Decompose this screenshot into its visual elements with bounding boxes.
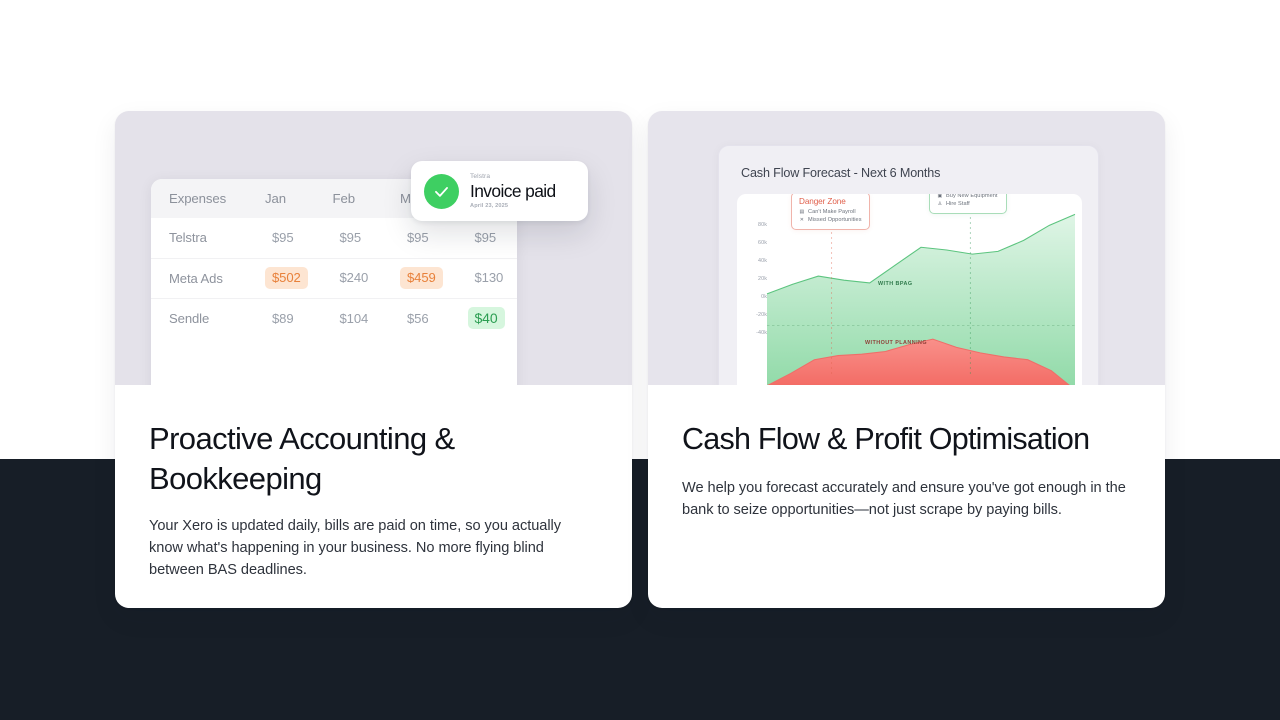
value-text: $130: [468, 267, 511, 288]
value-text-highlight-green: $40: [468, 307, 505, 329]
value-text: $104: [333, 308, 376, 329]
col-header-feb: Feb: [315, 179, 383, 218]
value-text-highlight-orange: $502: [265, 267, 308, 288]
feature-card-accounting[interactable]: Expenses Jan Feb Mar Telstra $95 $95 $9: [115, 111, 632, 608]
expense-table-body: Telstra $95 $95 $95 $95 Meta Ads $502 $2…: [151, 218, 517, 338]
value-text: $240: [333, 267, 376, 288]
toast-vendor: Telstra: [470, 172, 556, 181]
cell-value: $104: [315, 298, 383, 338]
cell-value: $95: [450, 218, 518, 258]
band-label-with-bpag: WITH BPAG: [878, 281, 913, 287]
feature-card-cashflow[interactable]: Cash Flow Forecast - Next 6 Months 80k 6…: [648, 111, 1165, 608]
cell-value: $95: [315, 218, 383, 258]
chart-canvas: 80k 60k 40k 20k 0k -20k -40k: [737, 194, 1082, 385]
danger-zone-callout: Danger Zone ▤ Can't Make Payroll ✕ Misse…: [791, 194, 870, 230]
check-circle-icon: [424, 174, 459, 209]
callout-item: ✕ Missed Opportunities: [799, 216, 862, 224]
callout-item: ▤ Can't Make Payroll: [799, 208, 862, 216]
value-text: $89: [265, 308, 301, 329]
cell-value: $95: [382, 218, 450, 258]
page-root: Expenses Jan Feb Mar Telstra $95 $95 $9: [0, 0, 1280, 720]
callout-title: Danger Zone: [799, 197, 862, 206]
toast-headline: Invoice paid: [470, 181, 556, 202]
chart-title: Cash Flow Forecast - Next 6 Months: [741, 166, 940, 180]
value-text: $56: [400, 308, 436, 329]
value-text: $95: [400, 227, 436, 248]
chart-plot: [737, 194, 1082, 385]
callout-item: ♙ Hire Staff: [937, 200, 999, 208]
table-row: Meta Ads $502 $240 $459 $130: [151, 258, 517, 298]
row-label: Meta Ads: [151, 258, 247, 298]
row-label: Telstra: [151, 218, 247, 258]
callout-item-label: Can't Make Payroll: [808, 208, 856, 216]
row-label: Sendle: [151, 298, 247, 338]
toast-text-group: Telstra Invoice paid April 23, 2025: [470, 172, 556, 211]
people-icon: ♙: [937, 200, 943, 208]
money-icon: ▤: [799, 208, 805, 216]
opportunity-zone-callout: Opportunity Zone ▣ Buy New Equipment ♙ H…: [929, 194, 1007, 214]
cell-value: $95: [247, 218, 315, 258]
value-text: $95: [468, 227, 504, 248]
cell-value: $240: [315, 258, 383, 298]
value-text: $95: [333, 227, 369, 248]
cross-icon: ✕: [799, 216, 805, 224]
cell-value: $89: [247, 298, 315, 338]
value-text-highlight-orange: $459: [400, 267, 443, 288]
cell-value: $502: [247, 258, 315, 298]
cell-value: $130: [450, 258, 518, 298]
table-row: Telstra $95 $95 $95 $95: [151, 218, 517, 258]
callout-item-label: Hire Staff: [946, 200, 970, 208]
card-description: We help you forecast accurately and ensu…: [682, 477, 1131, 521]
page-title: Cash Flow & Profit Optimisation: [682, 419, 1131, 459]
callout-item-label: Missed Opportunities: [808, 216, 862, 224]
card-body-cashflow: Cash Flow & Profit Optimisation We help …: [648, 385, 1165, 521]
cell-value: $56: [382, 298, 450, 338]
page-title: Proactive Accounting & Bookkeeping: [149, 419, 598, 499]
card-visual-cashflow-chart: Cash Flow Forecast - Next 6 Months 80k 6…: [648, 111, 1165, 385]
cashflow-panel: Cash Flow Forecast - Next 6 Months 80k 6…: [718, 145, 1099, 385]
cell-value: $459: [382, 258, 450, 298]
col-header-expenses: Expenses: [151, 179, 247, 218]
col-header-jan: Jan: [247, 179, 315, 218]
band-label-without-planning: WITHOUT PLANNING: [865, 340, 927, 346]
cell-value: $40: [450, 298, 518, 338]
toast-date: April 23, 2025: [470, 202, 556, 211]
value-text: $95: [265, 227, 301, 248]
table-row: Sendle $89 $104 $56 $40: [151, 298, 517, 338]
card-body-accounting: Proactive Accounting & Bookkeeping Your …: [115, 385, 632, 582]
card-description: Your Xero is updated daily, bills are pa…: [149, 515, 598, 582]
card-visual-expense-table: Expenses Jan Feb Mar Telstra $95 $95 $9: [115, 111, 632, 385]
invoice-paid-toast[interactable]: Telstra Invoice paid April 23, 2025: [411, 161, 588, 221]
